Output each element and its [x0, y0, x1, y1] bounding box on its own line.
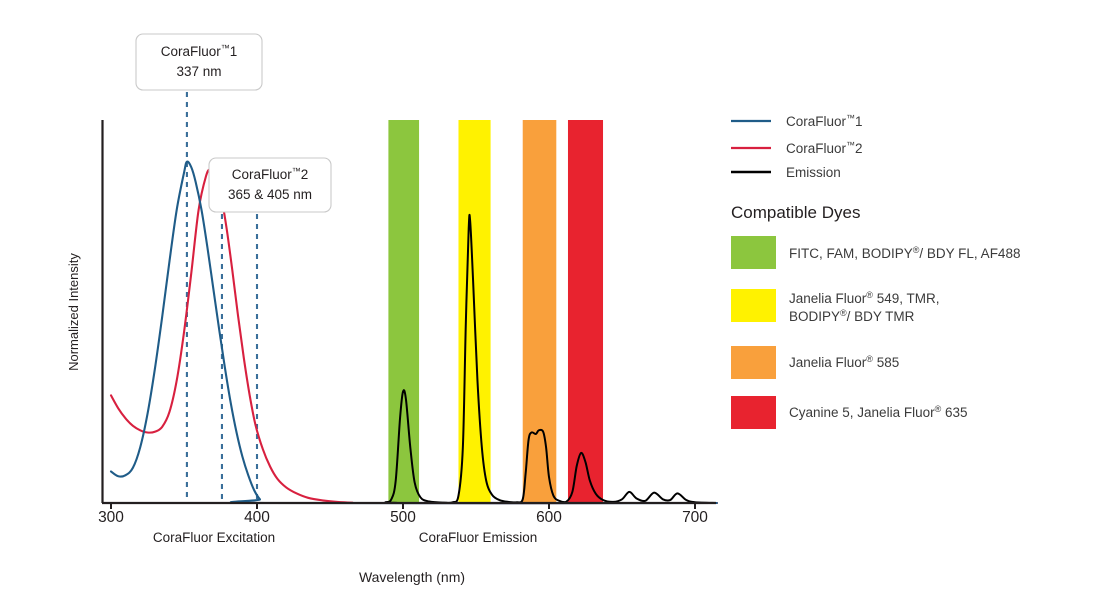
excitation-section-label: CoraFluor Excitation: [153, 530, 275, 545]
dye-swatch-green: [731, 236, 776, 269]
dye-label-yellow-line1: Janelia Fluor® 549, TMR,: [789, 290, 939, 306]
callout-corafluor1: CoraFluor™1 337 nm: [136, 34, 262, 90]
dye-swatch-red: [731, 396, 776, 429]
dye-label-green: FITC, FAM, BODIPY®/ BDY FL, AF488: [789, 245, 1020, 261]
red-band: [568, 120, 603, 503]
dye-swatch-orange: [731, 346, 776, 379]
dye-label-yellow-line2: BODIPY®/ BDY TMR: [789, 308, 915, 324]
dye-label-orange: Janelia Fluor® 585: [789, 354, 899, 370]
callout-1-line2: 337 nm: [176, 64, 221, 79]
callout-corafluor2: CoraFluor™2 365 & 405 nm: [209, 158, 331, 212]
spectra-figure: 300 400 500 600 700 CoraFluor Excitation…: [0, 0, 1110, 612]
emission-section-label: CoraFluor Emission: [419, 530, 538, 545]
legend-label-emission: Emission: [786, 165, 841, 180]
compatible-dyes-heading: Compatible Dyes: [731, 203, 860, 222]
x-axis-title: Wavelength (nm): [359, 569, 465, 585]
dye-label-red: Cyanine 5, Janelia Fluor® 635: [789, 404, 968, 420]
x-tick-label-700: 700: [682, 509, 708, 526]
x-tick-label-300: 300: [98, 509, 124, 526]
green-band: [388, 120, 419, 503]
x-tick-label-600: 600: [536, 509, 562, 526]
callout-1-box: [136, 34, 262, 90]
x-tick-label-500: 500: [390, 509, 416, 526]
dye-swatch-yellow: [731, 289, 776, 322]
y-axis-title: Normalized Intensity: [66, 253, 81, 371]
x-tick-label-400: 400: [244, 509, 270, 526]
callout-2-line2: 365 & 405 nm: [228, 187, 312, 202]
